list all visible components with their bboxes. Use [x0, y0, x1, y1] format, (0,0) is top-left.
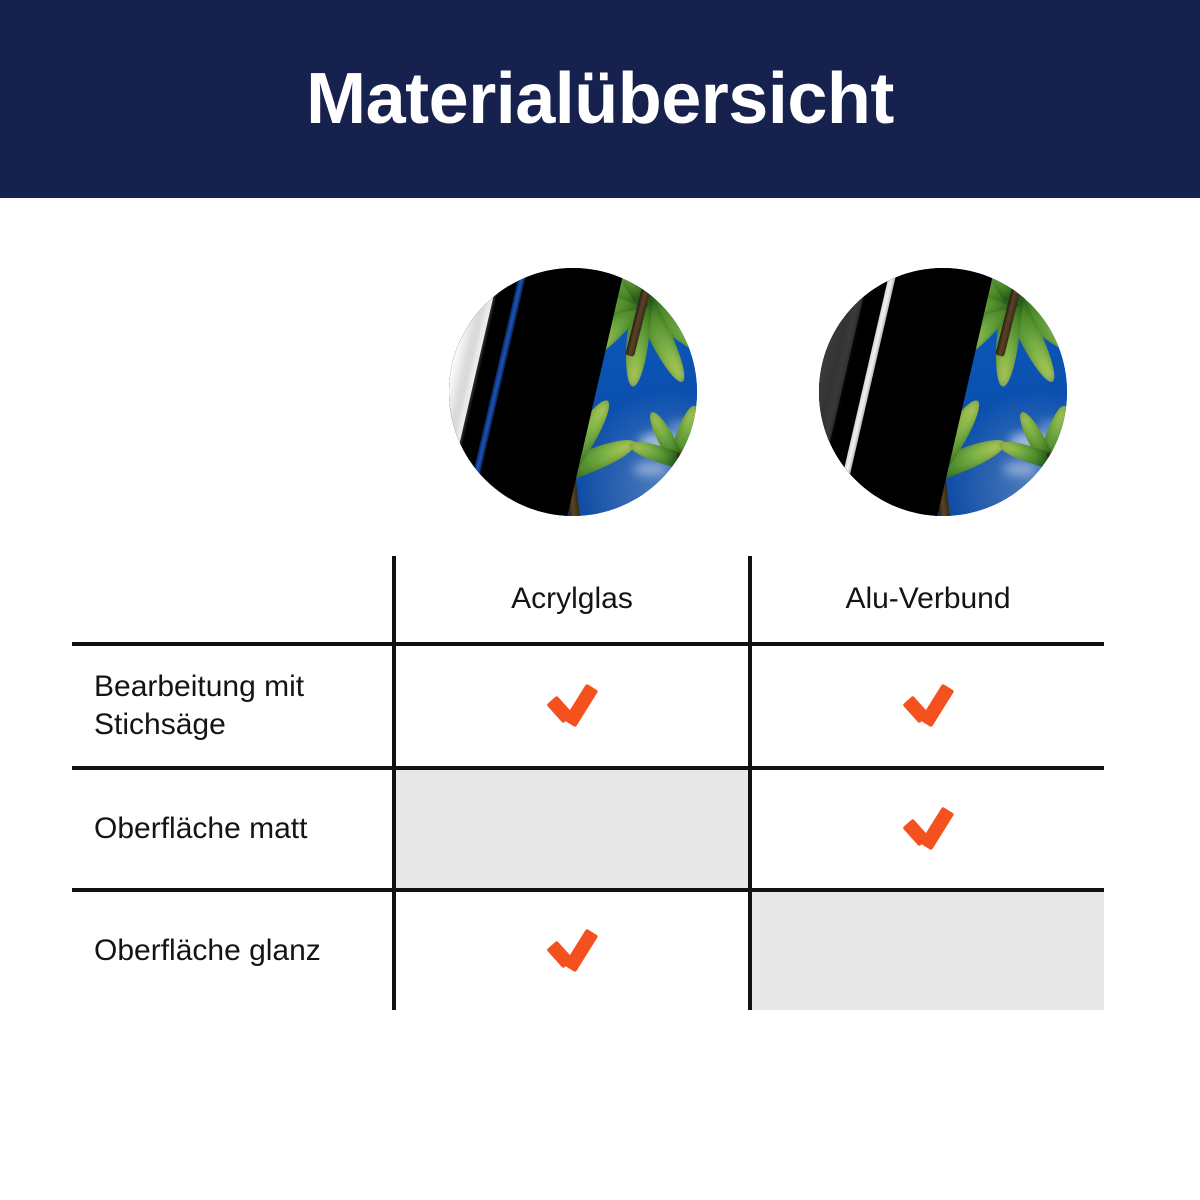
cell-bearbeitung-acrylglas — [394, 644, 750, 768]
row-label-line: Bearbeitung mit — [94, 670, 304, 703]
table-row: Oberfläche matt — [72, 768, 1104, 890]
table-header-alu-verbund: Alu-Verbund — [750, 556, 1104, 644]
cell-glanz-aluverbund — [750, 890, 1104, 1010]
material-comparison-table-wrap: Acrylglas Alu-Verbund Bearbeitung mit St… — [72, 556, 1104, 1010]
row-label-oberflaeche-matt: Oberfläche matt — [72, 768, 394, 890]
material-comparison-table: Acrylglas Alu-Verbund Bearbeitung mit St… — [72, 556, 1104, 1010]
row-label-oberflaeche-glanz: Oberfläche glanz — [72, 890, 394, 1010]
check-icon — [901, 807, 955, 847]
row-label-line: Stichsäge — [94, 708, 226, 741]
check-icon — [901, 684, 955, 724]
table-row: Bearbeitung mit Stichsäge — [72, 644, 1104, 768]
header-banner: Materialübersicht — [0, 0, 1200, 198]
cell-matt-aluverbund — [750, 768, 1104, 890]
sample-image-alu-verbund — [819, 268, 1067, 516]
sample-image-acrylglas — [449, 268, 697, 516]
table-row: Oberfläche glanz — [72, 890, 1104, 1010]
palm-sky-photo — [449, 268, 697, 516]
check-icon — [545, 684, 599, 724]
cell-glanz-acrylglas — [394, 890, 750, 1010]
row-label-line: Oberfläche matt — [94, 812, 307, 845]
row-label-line: Oberfläche glanz — [94, 934, 321, 967]
row-label-bearbeitung-stichsaege: Bearbeitung mit Stichsäge — [72, 644, 394, 768]
palm-sky-photo — [819, 268, 1067, 516]
table-header-acrylglas: Acrylglas — [394, 556, 750, 644]
panel-edge-overlay — [449, 268, 697, 516]
cell-bearbeitung-aluverbund — [750, 644, 1104, 768]
cell-matt-acrylglas — [394, 768, 750, 890]
page-title: Materialübersicht — [306, 63, 894, 135]
table-header-empty — [72, 556, 394, 644]
table-header-row: Acrylglas Alu-Verbund — [72, 556, 1104, 644]
panel-edge-overlay — [819, 268, 1067, 516]
material-overview-page: Materialübersicht — [0, 0, 1200, 1200]
check-icon — [545, 929, 599, 969]
material-sample-images — [0, 268, 1200, 516]
